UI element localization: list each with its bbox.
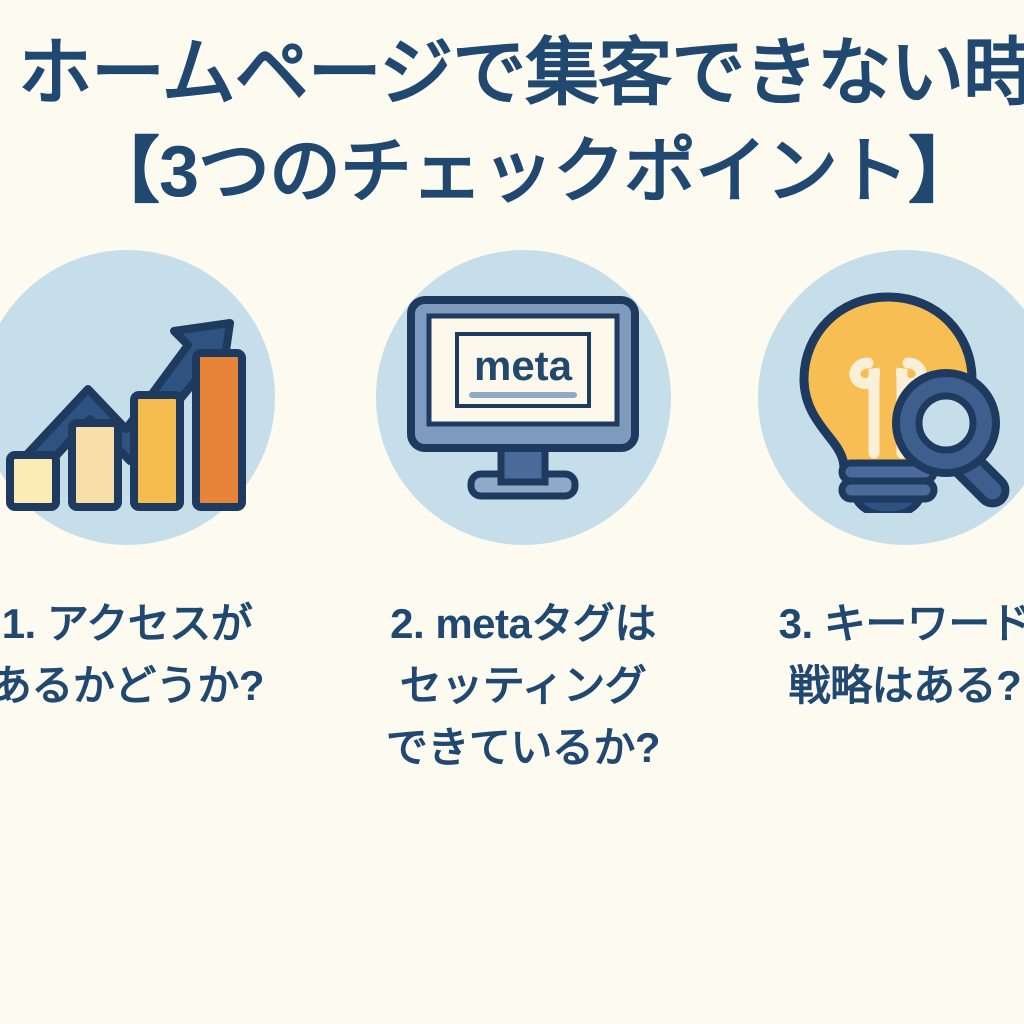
checkpoint-column-3: 3. キーワード 戦略はある?	[640, 250, 1024, 717]
caption-3-line-2: 戦略はある?	[640, 655, 1024, 717]
bar-chart-growth-icon	[2, 283, 252, 513]
icon-circle-2: meta	[376, 250, 671, 545]
caption-3-line-1: 3. キーワード	[640, 593, 1024, 655]
screen-meta-text: meta	[474, 342, 573, 389]
infographic-canvas: ホームページで集客できない時の 【3つのチェックポイント】 1. アクセスが	[0, 0, 1024, 1024]
title-line-2: 【3つのチェックポイント】	[88, 130, 979, 214]
lightbulb-magnifier-icon	[780, 283, 1024, 513]
title-block: ホームページで集客できない時の 【3つのチェックポイント】	[0, 22, 1024, 212]
title-line-1: ホームページで集客できない時の	[18, 30, 1024, 116]
monitor-meta-tag-icon: meta	[403, 288, 643, 508]
icon-circle-3	[758, 250, 1024, 545]
caption-3: 3. キーワード 戦略はある?	[640, 593, 1024, 717]
caption-2-line-3: できているか?	[258, 717, 788, 779]
icon-circle-1	[0, 250, 275, 545]
